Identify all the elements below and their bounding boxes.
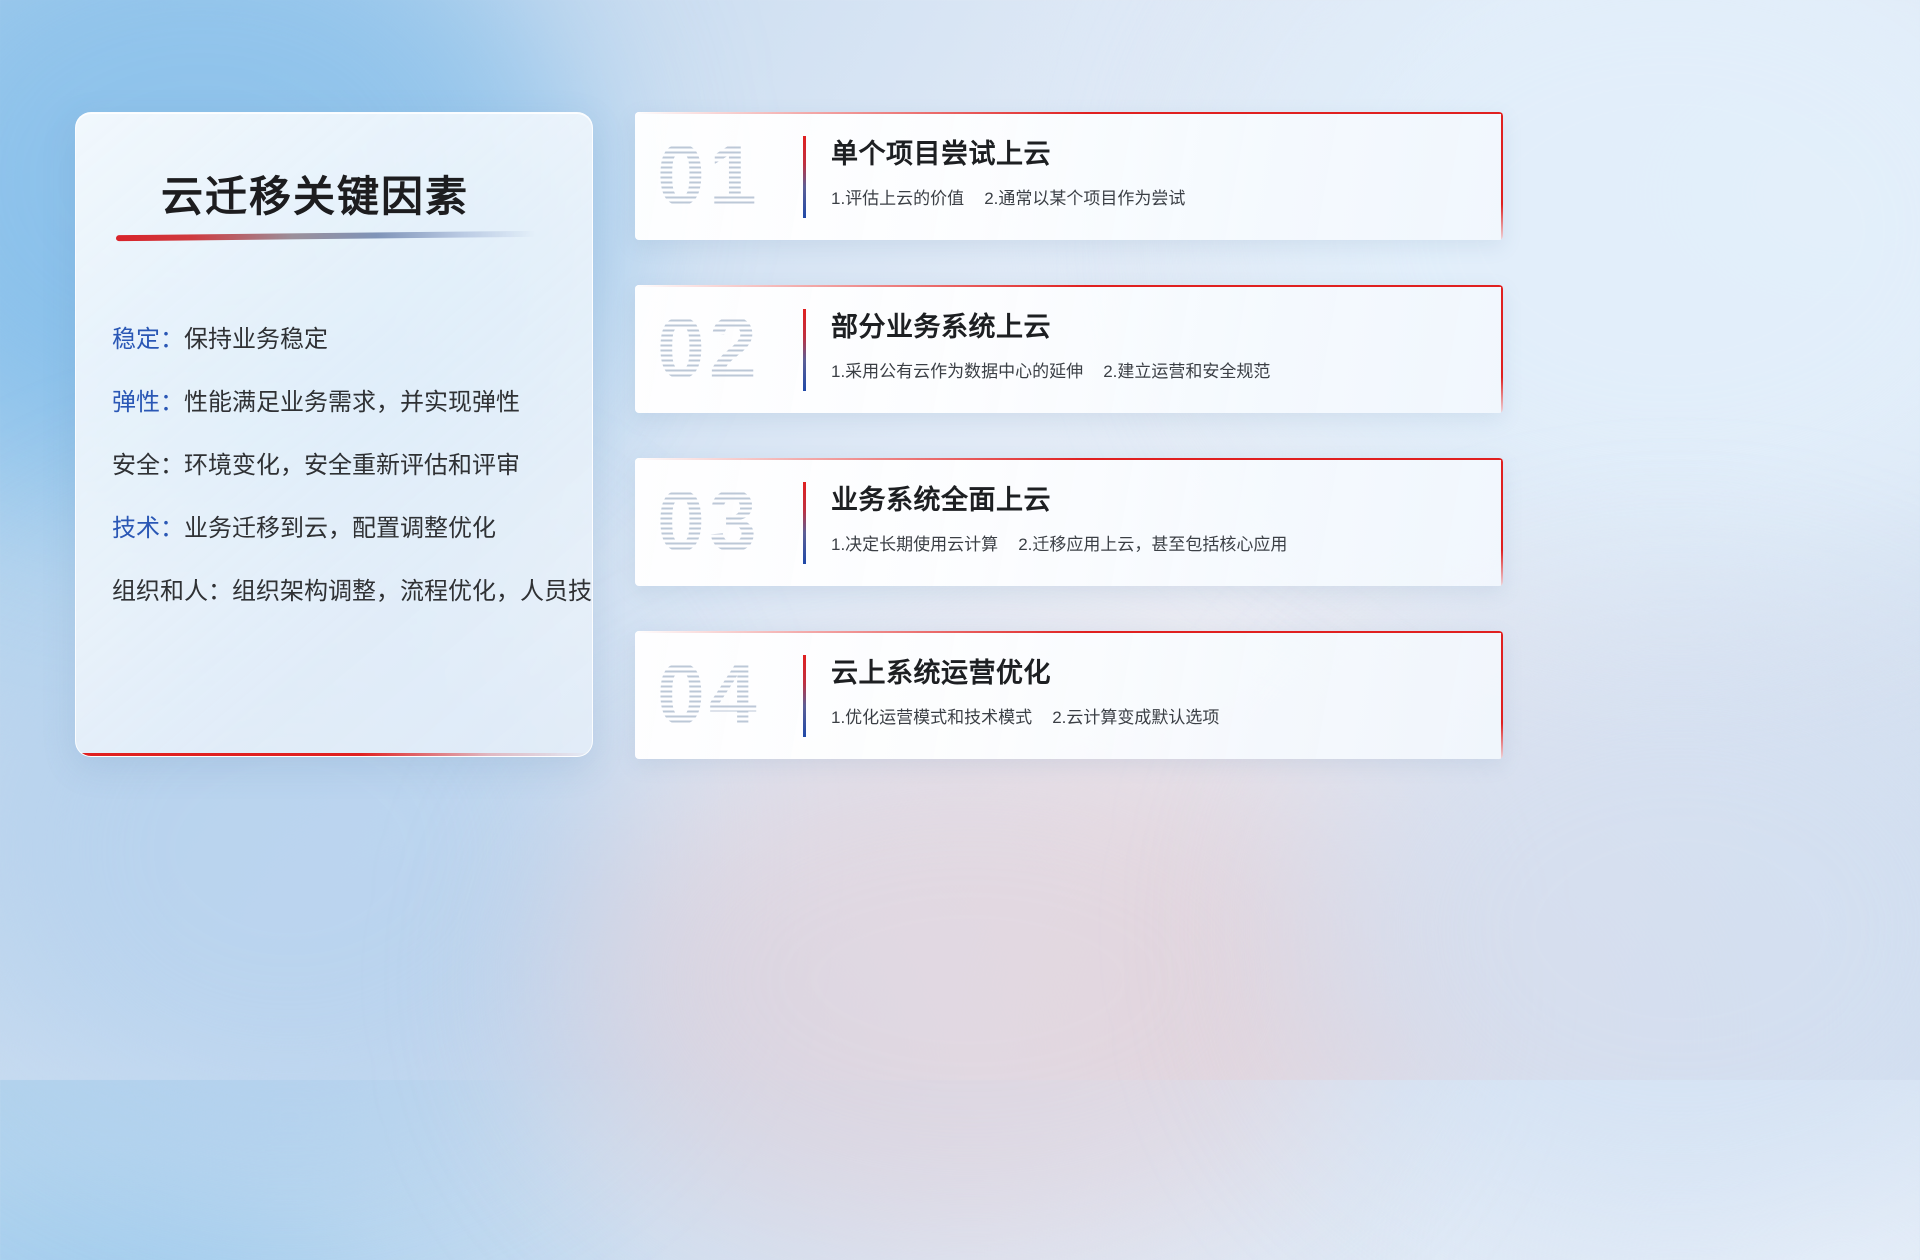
stage-card-description-part-2: 2.通常以某个项目作为尝试	[984, 189, 1185, 208]
stage-card[interactable]: 02部分业务系统上云1.采用公有云作为数据中心的延伸2.建立运营和安全规范	[635, 285, 1503, 413]
stage-card-description-part-1: 1.采用公有云作为数据中心的延伸	[831, 362, 1083, 381]
stage-card[interactable]: 01单个项目尝试上云1.评估上云的价值2.通常以某个项目作为尝试	[635, 112, 1503, 240]
stage-card-description: 1.决定长期使用云计算2.迁移应用上云，甚至包括核心应用	[831, 530, 1475, 560]
key-factor-item: 技术：业务迁移到云，配置调整优化	[112, 497, 574, 560]
key-factors-panel: 云迁移关键因素 稳定：保持业务稳定弹性：性能满足业务需求，并实现弹性安全：环境变…	[75, 112, 593, 757]
stage-card-title: 云上系统运营优化	[831, 653, 1475, 693]
stage-number: 01	[657, 127, 761, 226]
key-factor-label: 稳定：	[112, 326, 184, 353]
stage-card-description-part-2: 2.建立运营和安全规范	[1103, 362, 1270, 381]
key-factor-value: 组织架构调整，流程优化，人员技能培训	[232, 578, 593, 605]
accent-bar-icon	[803, 136, 806, 218]
key-factor-label: 技术：	[112, 515, 184, 542]
stage-card-description-part-1: 1.决定长期使用云计算	[831, 535, 998, 554]
stage-card-title: 单个项目尝试上云	[831, 134, 1475, 174]
stage-card-body: 部分业务系统上云1.采用公有云作为数据中心的延伸2.建立运营和安全规范	[831, 307, 1475, 387]
key-factors-list: 稳定：保持业务稳定弹性：性能满足业务需求，并实现弹性安全：环境变化，安全重新评估…	[112, 308, 574, 623]
stage-card-title: 业务系统全面上云	[831, 480, 1475, 520]
migration-stage-cards: 01单个项目尝试上云1.评估上云的价值2.通常以某个项目作为尝试02部分业务系统…	[635, 112, 1503, 804]
stage-number: 04	[657, 646, 761, 745]
accent-bar-icon	[803, 309, 806, 391]
stage-number: 02	[657, 300, 761, 399]
stage-card[interactable]: 04云上系统运营优化1.优化运营模式和技术模式2.云计算变成默认选项	[635, 631, 1503, 759]
stage-card-title: 部分业务系统上云	[831, 307, 1475, 347]
key-factor-item: 组织和人：组织架构调整，流程优化，人员技能培训	[112, 560, 574, 623]
key-factor-item: 弹性：性能满足业务需求，并实现弹性	[112, 371, 574, 434]
stage-card-body: 单个项目尝试上云1.评估上云的价值2.通常以某个项目作为尝试	[831, 134, 1475, 214]
key-factor-label: 安全：	[112, 452, 184, 479]
stage-card-description-part-1: 1.优化运营模式和技术模式	[831, 708, 1032, 727]
key-factor-item: 稳定：保持业务稳定	[112, 308, 574, 371]
key-factor-label: 弹性：	[112, 389, 184, 416]
accent-bar-icon	[803, 655, 806, 737]
key-factor-value: 保持业务稳定	[184, 326, 328, 353]
title-underline-rule	[116, 231, 536, 241]
stage-card-description: 1.优化运营模式和技术模式2.云计算变成默认选项	[831, 703, 1475, 733]
accent-bar-icon	[803, 482, 806, 564]
page-title: 云迁移关键因素	[161, 163, 469, 224]
slide-stage: 云迁移关键因素 稳定：保持业务稳定弹性：性能满足业务需求，并实现弹性安全：环境变…	[0, 0, 1920, 1080]
stage-card-body: 业务系统全面上云1.决定长期使用云计算2.迁移应用上云，甚至包括核心应用	[831, 480, 1475, 560]
key-factor-value: 业务迁移到云，配置调整优化	[184, 515, 496, 542]
stage-card-description-part-2: 2.云计算变成默认选项	[1052, 708, 1219, 727]
stage-card[interactable]: 03业务系统全面上云1.决定长期使用云计算2.迁移应用上云，甚至包括核心应用	[635, 458, 1503, 586]
key-factor-value: 环境变化，安全重新评估和评审	[184, 452, 520, 479]
key-factor-item: 安全：环境变化，安全重新评估和评审	[112, 434, 574, 497]
stage-card-description-part-1: 1.评估上云的价值	[831, 189, 964, 208]
key-factor-value: 性能满足业务需求，并实现弹性	[184, 389, 520, 416]
stage-card-body: 云上系统运营优化1.优化运营模式和技术模式2.云计算变成默认选项	[831, 653, 1475, 733]
stage-card-description-part-2: 2.迁移应用上云，甚至包括核心应用	[1018, 535, 1287, 554]
stage-card-description: 1.采用公有云作为数据中心的延伸2.建立运营和安全规范	[831, 357, 1475, 387]
key-factor-label: 组织和人：	[112, 578, 232, 605]
stage-number: 03	[657, 473, 761, 572]
stage-card-description: 1.评估上云的价值2.通常以某个项目作为尝试	[831, 184, 1475, 214]
